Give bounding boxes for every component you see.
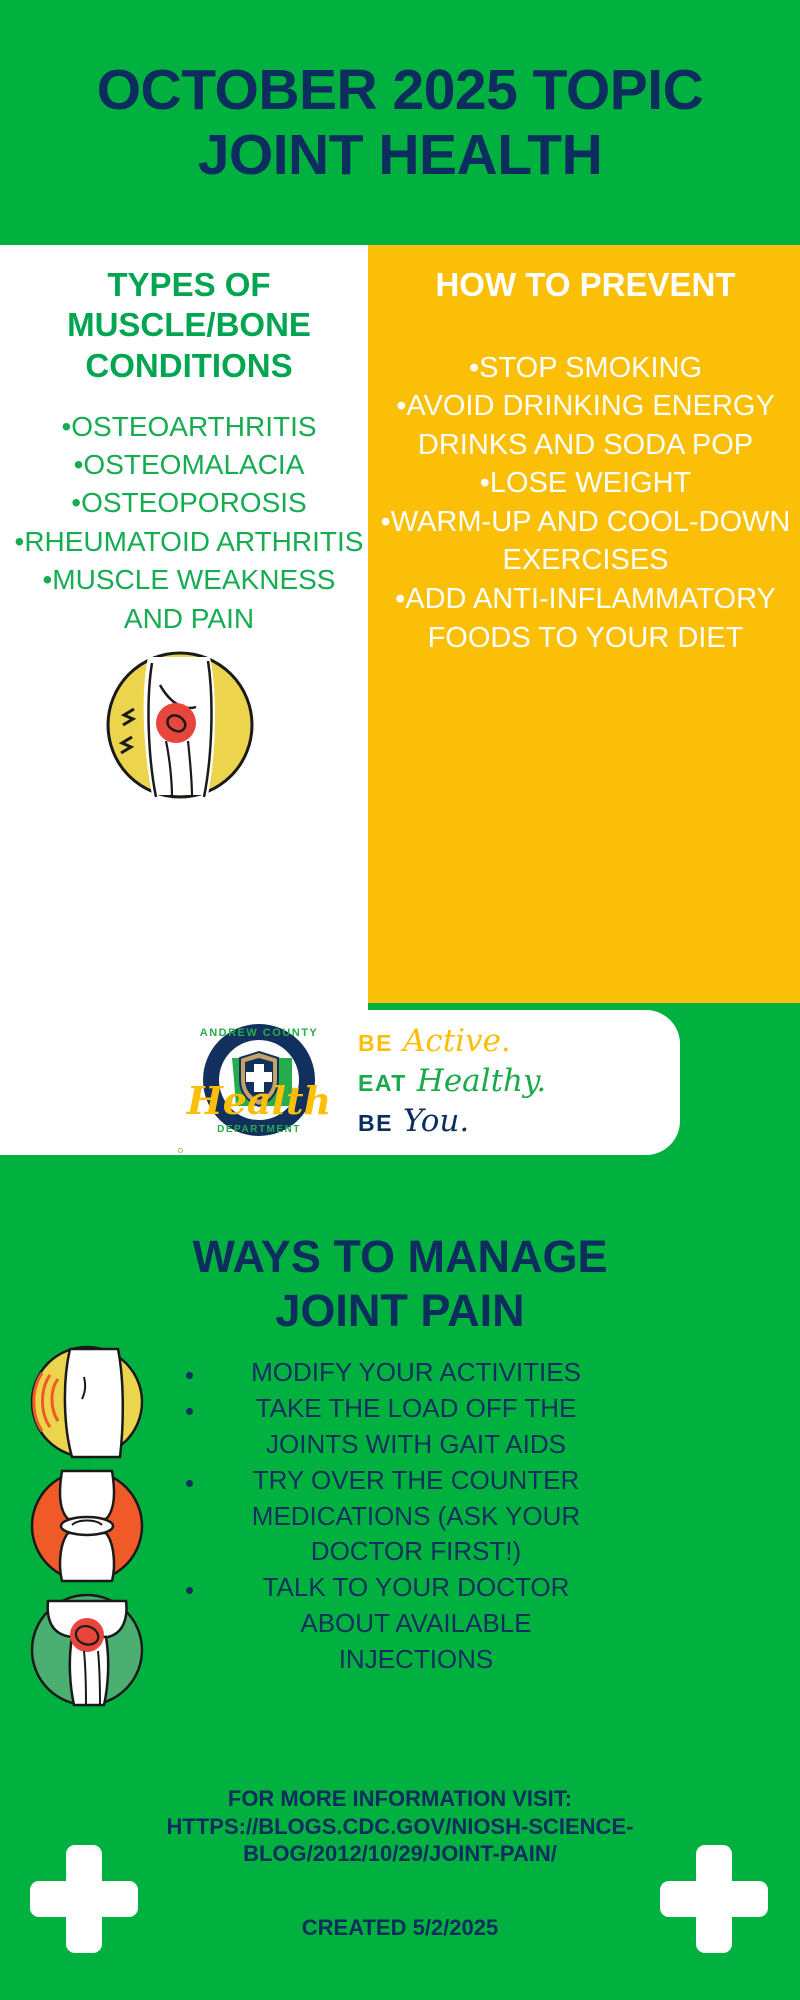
list-item: •OSTEOPOROSIS — [14, 484, 364, 522]
seal-bottom-text: DEPARTMENT — [217, 1124, 301, 1135]
tagline-block: BE Active. EAT Healthy. BE You. — [358, 1023, 546, 1143]
prevent-list: •STOP SMOKING •AVOID DRINKING ENERGY DRI… — [378, 349, 793, 658]
conditions-title-line3: CONDITIONS — [14, 346, 364, 386]
header-title-line1: OCTOBER 2025 TOPIC — [97, 58, 704, 123]
tagline-prefix: BE — [358, 1110, 393, 1137]
list-item: •OSTEOMALACIA — [14, 446, 364, 484]
knee-pain-illustration — [100, 645, 260, 805]
manage-section: WAYS TO MANAGE JOINT PAIN — [0, 1155, 800, 2000]
seal-top-text: ANDREW COUNTY — [200, 1027, 319, 1039]
andrew-county-health-seal-icon: ANDREW COUNTY DEPARTMENT Health — [174, 1018, 344, 1148]
health-department-logo-card: ANDREW COUNTY DEPARTMENT Health BE Activ… — [160, 1010, 680, 1155]
decorative-dot — [178, 1148, 183, 1153]
shoulder-pain-icon — [28, 1343, 146, 1461]
header-banner: OCTOBER 2025 TOPIC JOINT HEALTH — [0, 0, 800, 245]
manage-title-line1: WAYS TO MANAGE — [60, 1230, 740, 1284]
manage-list: • MODIFY YOUR ACTIVITIES • TAKE THE LOAD… — [185, 1355, 605, 1678]
list-item: •MUSCLE WEAKNESS AND PAIN — [14, 561, 364, 638]
tagline-row-2: EAT Healthy. — [358, 1063, 546, 1103]
tagline-script: You. — [403, 1103, 469, 1139]
bullet-marker: • — [185, 1394, 194, 1430]
list-item-label: TAKE THE LOAD OFF THE JOINTS WITH GAIT A… — [256, 1393, 577, 1459]
list-item: •ADD ANTI-INFLAMMATORY FOODS TO YOUR DIE… — [378, 580, 793, 657]
footer-url-line2[interactable]: BLOG/2012/10/29/JOINT-PAIN/ — [40, 1840, 760, 1868]
created-date: CREATED 5/2/2025 — [40, 1915, 760, 1941]
footer-info-line1: FOR MORE INFORMATION VISIT: — [40, 1785, 760, 1813]
infographic-page: OCTOBER 2025 TOPIC JOINT HEALTH TYPES OF… — [0, 0, 800, 2000]
bullet-marker: • — [185, 1466, 194, 1502]
knee-joint-pain-icon — [28, 1467, 146, 1585]
list-item: •RHEUMATOID ARTHRITIS — [14, 523, 364, 561]
tagline-script: Active. — [403, 1023, 511, 1059]
tagline-row-1: BE Active. — [358, 1023, 546, 1063]
conditions-list: •OSTEOARTHRITIS •OSTEOMALACIA •OSTEOPORO… — [14, 408, 364, 638]
list-item: •OSTEOARTHRITIS — [14, 408, 364, 446]
prevent-panel: HOW TO PREVENT •STOP SMOKING •AVOID DRIN… — [378, 265, 793, 657]
list-item-label: TALK TO YOUR DOCTOR ABOUT AVAILABLE INJE… — [263, 1572, 570, 1674]
header-title-line2: JOINT HEALTH — [198, 123, 603, 188]
seal-script-text: Health — [186, 1078, 331, 1123]
list-item-label: TRY OVER THE COUNTER MEDICATIONS (ASK YO… — [252, 1465, 580, 1567]
tagline-prefix: EAT — [358, 1070, 407, 1097]
hip-joint-pain-icon — [28, 1591, 146, 1709]
list-item: • TALK TO YOUR DOCTOR ABOUT AVAILABLE IN… — [185, 1570, 605, 1678]
conditions-title-line1: TYPES OF — [14, 265, 364, 305]
list-item: •WARM-UP AND COOL-DOWN EXERCISES — [378, 503, 793, 580]
conditions-title-line2: MUSCLE/BONE — [14, 305, 364, 345]
list-item: • MODIFY YOUR ACTIVITIES — [185, 1355, 605, 1391]
manage-title-line2: JOINT PAIN — [60, 1284, 740, 1338]
tagline-row-3: BE You. — [358, 1103, 546, 1143]
prevent-title: HOW TO PREVENT — [378, 265, 793, 305]
list-item: •AVOID DRINKING ENERGY DRINKS AND SODA P… — [378, 387, 793, 464]
footer-info: FOR MORE INFORMATION VISIT: HTTPS://BLOG… — [40, 1785, 760, 1868]
tagline-prefix: BE — [358, 1030, 393, 1057]
list-item: • TRY OVER THE COUNTER MEDICATIONS (ASK … — [185, 1463, 605, 1571]
list-item: • TAKE THE LOAD OFF THE JOINTS WITH GAIT… — [185, 1391, 605, 1463]
bullet-marker: • — [185, 1573, 194, 1609]
list-item: •LOSE WEIGHT — [378, 464, 793, 503]
tagline-script: Healthy. — [417, 1063, 546, 1099]
list-item: •STOP SMOKING — [378, 349, 793, 388]
list-item-label: MODIFY YOUR ACTIVITIES — [251, 1357, 581, 1387]
footer-url-line1[interactable]: HTTPS://BLOGS.CDC.GOV/NIOSH-SCIENCE- — [40, 1813, 760, 1841]
conditions-panel: TYPES OF MUSCLE/BONE CONDITIONS •OSTEOAR… — [14, 265, 364, 638]
manage-title: WAYS TO MANAGE JOINT PAIN — [60, 1230, 740, 1338]
bullet-marker: • — [185, 1358, 194, 1394]
